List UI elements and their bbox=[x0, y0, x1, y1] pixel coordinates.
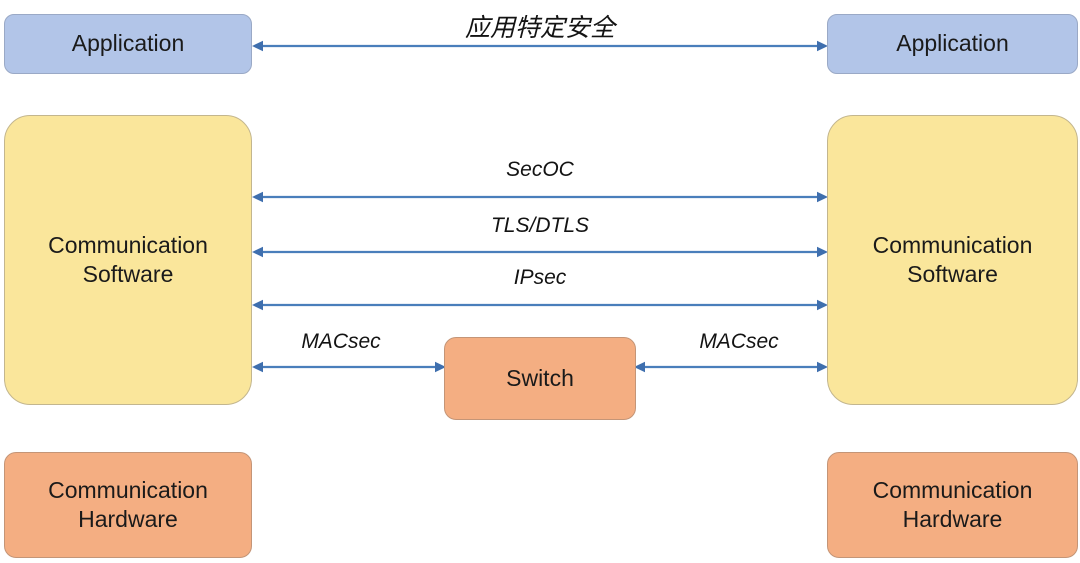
connector-label-macsec-left: MACsec bbox=[248, 330, 434, 354]
connector-ipsec bbox=[252, 302, 828, 305]
node-left-communication-hardware[interactable]: Communication Hardware bbox=[4, 452, 252, 558]
node-right-communication-software-label: Communication Software bbox=[873, 231, 1033, 290]
connector-secoc bbox=[252, 194, 828, 197]
node-left-communication-hardware-line1: Communication bbox=[48, 477, 208, 503]
node-right-communication-hardware-label: Communication Hardware bbox=[873, 476, 1033, 535]
connector-macsec-left bbox=[252, 364, 446, 367]
node-right-communication-software-line2: Software bbox=[907, 261, 998, 287]
connector-label-application-security: 应用特定安全 bbox=[380, 8, 700, 44]
node-right-communication-hardware-line2: Hardware bbox=[903, 506, 1003, 532]
node-right-communication-software[interactable]: Communication Software bbox=[827, 115, 1078, 405]
node-right-communication-hardware[interactable]: Communication Hardware bbox=[827, 452, 1078, 558]
connector-label-secoc: SecOC bbox=[390, 158, 690, 182]
connector-macsec-right bbox=[634, 364, 828, 367]
node-right-communication-hardware-line1: Communication bbox=[873, 477, 1033, 503]
node-left-application-label: Application bbox=[72, 29, 185, 58]
node-left-communication-hardware-label: Communication Hardware bbox=[48, 476, 208, 535]
node-right-communication-software-line1: Communication bbox=[873, 232, 1033, 258]
node-left-application[interactable]: Application bbox=[4, 14, 252, 74]
node-switch-label: Switch bbox=[506, 364, 574, 393]
connector-label-ipsec: IPsec bbox=[390, 266, 690, 290]
connector-tls-dtls bbox=[252, 249, 828, 252]
diagram-canvas: 应用特定安全 SecOC TLS/DTLS IPsec MACsec MACse… bbox=[0, 0, 1080, 563]
node-left-communication-software-line2: Software bbox=[83, 261, 174, 287]
node-left-communication-software[interactable]: Communication Software bbox=[4, 115, 252, 405]
node-right-application-label: Application bbox=[896, 29, 1009, 58]
node-right-application[interactable]: Application bbox=[827, 14, 1078, 74]
connector-label-tls-dtls: TLS/DTLS bbox=[390, 214, 690, 238]
node-left-communication-software-label: Communication Software bbox=[48, 231, 208, 290]
node-left-communication-hardware-line2: Hardware bbox=[78, 506, 178, 532]
node-left-communication-software-line1: Communication bbox=[48, 232, 208, 258]
node-switch[interactable]: Switch bbox=[444, 337, 636, 420]
connector-label-macsec-right: MACsec bbox=[646, 330, 832, 354]
